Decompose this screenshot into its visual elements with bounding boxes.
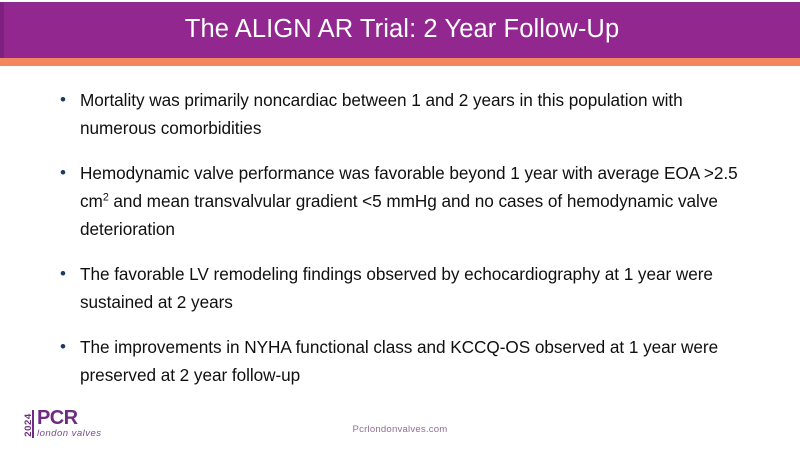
bullet-text-nyha-kccq: The improvements in NYHA functional clas… xyxy=(80,333,758,389)
logo-divider-rule xyxy=(32,410,34,438)
list-item: • Mortality was primarily noncardiac bet… xyxy=(58,86,758,142)
bullet-point-icon: • xyxy=(58,159,80,187)
list-item: • The improvements in NYHA functional cl… xyxy=(58,333,758,389)
bullet-text-segment-after: and mean transvalvular gradient <5 mmHg … xyxy=(80,191,718,239)
bullet-text-hemodynamic-valve-performance: Hemodynamic valve performance was favora… xyxy=(80,159,758,243)
list-item: • The favorable LV remodeling findings o… xyxy=(58,260,758,316)
logo-brand-label: PCR xyxy=(37,408,77,429)
bullet-text-lv-remodeling: The favorable LV remodeling findings obs… xyxy=(80,260,758,316)
list-item: • Hemodynamic valve performance was favo… xyxy=(58,159,758,243)
bullet-point-icon: • xyxy=(58,260,80,288)
slide-canvas: The ALIGN AR Trial: 2 Year Follow-Up • M… xyxy=(0,0,800,450)
pcr-london-valves-logo: 2024 PCR london valves xyxy=(15,408,135,442)
slide-title-band: The ALIGN AR Trial: 2 Year Follow-Up xyxy=(0,2,800,58)
bullet-point-icon: • xyxy=(58,333,80,361)
logo-subtitle-label: london valves xyxy=(37,428,102,440)
bullet-text-mortality-noncardiac: Mortality was primarily noncardiac betwe… xyxy=(80,86,758,142)
bullet-list: • Mortality was primarily noncardiac bet… xyxy=(58,86,758,406)
accent-divider-bar xyxy=(0,58,800,66)
bullet-point-icon: • xyxy=(58,86,80,114)
page-title: The ALIGN AR Trial: 2 Year Follow-Up xyxy=(185,17,619,45)
